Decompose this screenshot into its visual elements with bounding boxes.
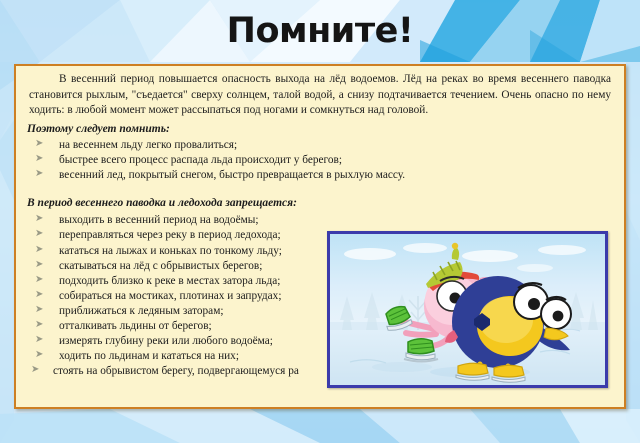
arrow-bullet-icon: ➤	[35, 275, 44, 285]
list-item: ➤ быстрее всего процесс распада льда про…	[29, 153, 615, 168]
list-item-label: приближаться к ледяным заторам;	[59, 305, 223, 317]
remember-list: ➤ на весеннем льду легко провалиться; ➤ …	[25, 138, 615, 184]
intro-paragraph: В весенний период повышается опасность в…	[25, 72, 615, 119]
arrow-bullet-icon: ➤	[35, 245, 44, 255]
arrow-bullet-icon: ➤	[35, 260, 44, 270]
illustration-photo	[327, 231, 608, 388]
list-item-label: стоять на обрывистом берегу, подвергающе…	[53, 365, 299, 377]
arrow-bullet-icon: ➤	[35, 229, 44, 239]
list-item-label: отталкивать льдины от берегов;	[59, 320, 212, 332]
arrow-bullet-icon: ➤	[35, 154, 44, 164]
list-item-label: быстрее всего процесс распада льда проис…	[59, 154, 342, 166]
list-item-label: измерять глубину реки или любого водоёма…	[59, 335, 273, 347]
forbidden-heading: В период весеннего паводка и ледохода за…	[27, 196, 615, 211]
skating-cartoon-illustration	[330, 234, 605, 385]
list-item-label: весенний лед, покрытый снегом, быстро пр…	[59, 169, 405, 181]
list-item-label: скатываться на лёд с обрывистых берегов;	[59, 260, 262, 272]
remember-heading: Поэтому следует помнить:	[27, 122, 615, 137]
list-item-label: ходить по льдинам и кататься на них;	[59, 350, 239, 362]
list-item: ➤ на весеннем льду легко провалиться;	[29, 138, 615, 153]
list-item-label: выходить в весенний период на водоёмы;	[59, 214, 258, 226]
arrow-bullet-icon: ➤	[35, 214, 44, 224]
arrow-bullet-icon: ➤	[35, 169, 44, 179]
list-item-label: кататься на лыжах и коньках по тонкому л…	[59, 245, 282, 257]
slide-canvas: Помните! В весенний период повышается оп…	[0, 0, 640, 443]
list-item: ➤ выходить в весенний период на водоёмы;	[29, 213, 615, 228]
arrow-bullet-icon: ➤	[35, 350, 44, 360]
list-item-label: переправляться через реку в период ледох…	[59, 229, 281, 241]
list-item-label: собираться на мостиках, плотинах и запру…	[59, 290, 281, 302]
list-item-label: на весеннем льду легко провалиться;	[59, 139, 237, 151]
arrow-bullet-icon: ➤	[35, 335, 44, 345]
list-item: ➤ весенний лед, покрытый снегом, быстро …	[29, 168, 615, 183]
arrow-bullet-icon: ➤	[35, 320, 44, 330]
list-item-label: подходить близко к реке в местах затора …	[59, 275, 280, 287]
page-title: Помните!	[0, 14, 640, 49]
arrow-bullet-icon: ➤	[35, 290, 44, 300]
arrow-bullet-icon: ➤	[35, 305, 44, 315]
arrow-bullet-icon: ➤	[31, 365, 40, 375]
arrow-bullet-icon: ➤	[35, 139, 44, 149]
